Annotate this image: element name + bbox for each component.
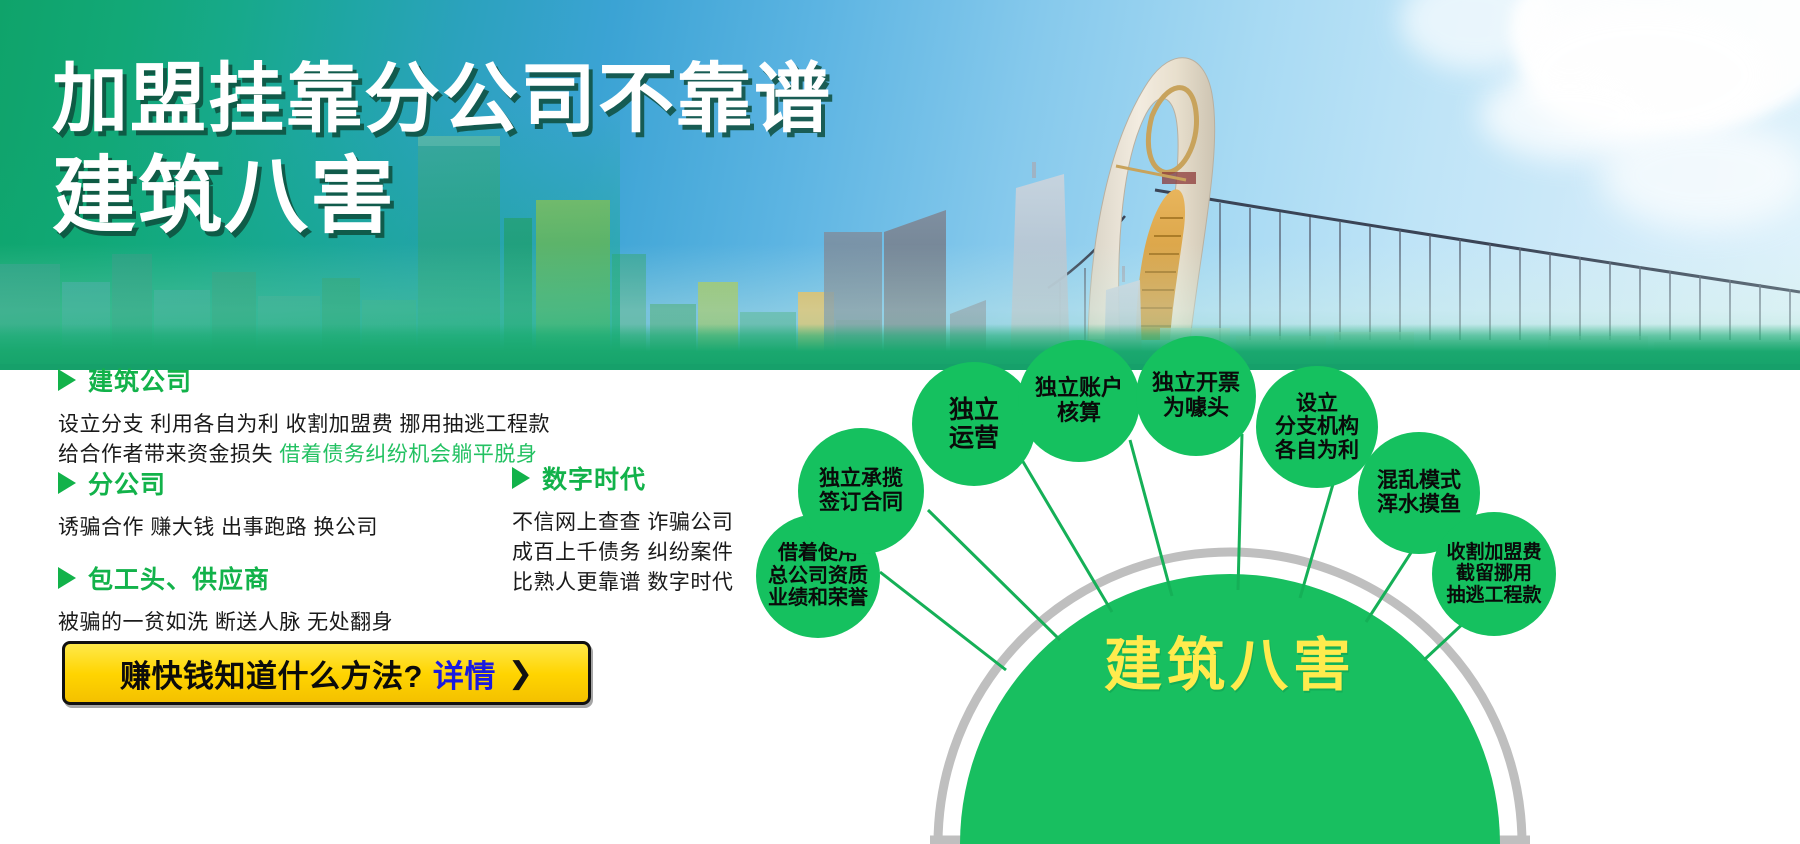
section-body-line: 设立分支 利用各自为利 收割加盟费 挪用抽逃工程款 [58, 410, 550, 440]
bubble-text-line: 抽逃工程款 [1446, 585, 1541, 606]
radial-diagram: 借着使用 总公司资质 业绩和荣誉 独立承揽 签订合同 独立 运营 独立账户 核算… [760, 340, 1800, 844]
bubble-text-line: 分支机构 [1275, 415, 1359, 439]
body-text: 给合作者带来资金损失 [58, 443, 279, 466]
body-text: 设立分支 利用各自为利 收割加盟费 挪用抽逃工程款 [58, 413, 550, 436]
bubble-text-line: 业绩和荣誉 [768, 587, 868, 609]
bubble-text-line: 独立承揽 [819, 467, 903, 491]
bubble-text-line: 独立开票 [1152, 371, 1240, 396]
section-body-line: 被骗的一贫如洗 断送人脉 无处翻身 [58, 608, 393, 638]
section-branch-company: 分公司 诱骗合作 赚大钱 出事跑路 换公司 [58, 465, 378, 543]
section-header: 分公司 [58, 465, 378, 501]
section-body-line: 成百上千债务 纠纷案件 [512, 538, 733, 568]
cta-detail-link[interactable]: 详情 [433, 651, 496, 696]
section-construction-company: 建筑公司 设立分支 利用各自为利 收割加盟费 挪用抽逃工程款 给合作者带来资金损… [58, 362, 550, 470]
bubble-6[interactable]: 设立 分支机构 各自为利 [1256, 366, 1378, 488]
headline-line-2: 建筑八害 [52, 154, 832, 238]
cta-main-label: 赚快钱知道什么方法? [120, 651, 423, 696]
hero-headline: 加盟挂靠分公司不靠谱 建筑八害 [52, 62, 832, 238]
section-header: 包工头、供应商 [58, 560, 393, 596]
dome-center-label: 建筑八害 [988, 618, 1472, 702]
section-title: 数字时代 [542, 460, 646, 496]
triangle-bullet-icon [58, 567, 76, 589]
body-text-highlight: 借着债务纠纷机会躺平脱身 [279, 443, 537, 466]
section-header: 数字时代 [512, 460, 733, 496]
headline-line-1: 加盟挂靠分公司不靠谱 [52, 62, 832, 138]
section-header: 建筑公司 [58, 362, 550, 398]
bubble-text-line: 混乱模式 [1377, 469, 1461, 493]
bubble-text-line: 设立 [1275, 392, 1359, 416]
section-title: 建筑公司 [88, 362, 192, 398]
section-digital-era: 数字时代 不信网上查查 诈骗公司 成百上千债务 纠纷案件 比熟人更靠谱 数字时代 [512, 460, 733, 597]
bubble-text-line: 核算 [1035, 401, 1123, 426]
section-body-line: 诱骗合作 赚大钱 出事跑路 换公司 [58, 513, 378, 543]
triangle-bullet-icon [58, 472, 76, 494]
left-content-panel: 建筑公司 设立分支 利用各自为利 收割加盟费 挪用抽逃工程款 给合作者带来资金损… [0, 370, 800, 844]
bubble-text-line: 独立 [949, 396, 999, 424]
bubble-4[interactable]: 独立账户 核算 [1018, 340, 1140, 462]
bubble-text-line: 运营 [949, 424, 999, 452]
chevron-right-icon: ❯ [508, 656, 533, 691]
bubble-text-line: 截留挪用 [1446, 563, 1541, 584]
bubble-3[interactable]: 独立 运营 [912, 362, 1036, 486]
section-body-line: 不信网上查查 诈骗公司 [512, 508, 733, 538]
bubble-text-line: 为噱头 [1152, 396, 1240, 421]
section-contractor-supplier: 包工头、供应商 被骗的一贫如洗 断送人脉 无处翻身 [58, 560, 393, 638]
bubble-5[interactable]: 独立开票 为噱头 [1136, 336, 1256, 456]
bubble-2[interactable]: 独立承揽 签订合同 [798, 428, 924, 554]
bubble-text-line: 总公司资质 [768, 565, 868, 587]
bubble-text-line: 收割加盟费 [1446, 542, 1541, 563]
triangle-bullet-icon [58, 369, 76, 391]
triangle-bullet-icon [512, 467, 530, 489]
cta-button[interactable]: 赚快钱知道什么方法? 详情 ❯ [62, 641, 591, 705]
bubble-text-line: 浑水摸鱼 [1377, 493, 1461, 517]
bubble-text-line: 独立账户 [1035, 376, 1123, 401]
bubble-text-line: 各自为利 [1275, 439, 1359, 463]
bubble-text-line: 签订合同 [819, 491, 903, 515]
section-title: 分公司 [88, 465, 166, 501]
section-body-line: 比熟人更靠谱 数字时代 [512, 568, 733, 598]
section-title: 包工头、供应商 [88, 560, 270, 596]
